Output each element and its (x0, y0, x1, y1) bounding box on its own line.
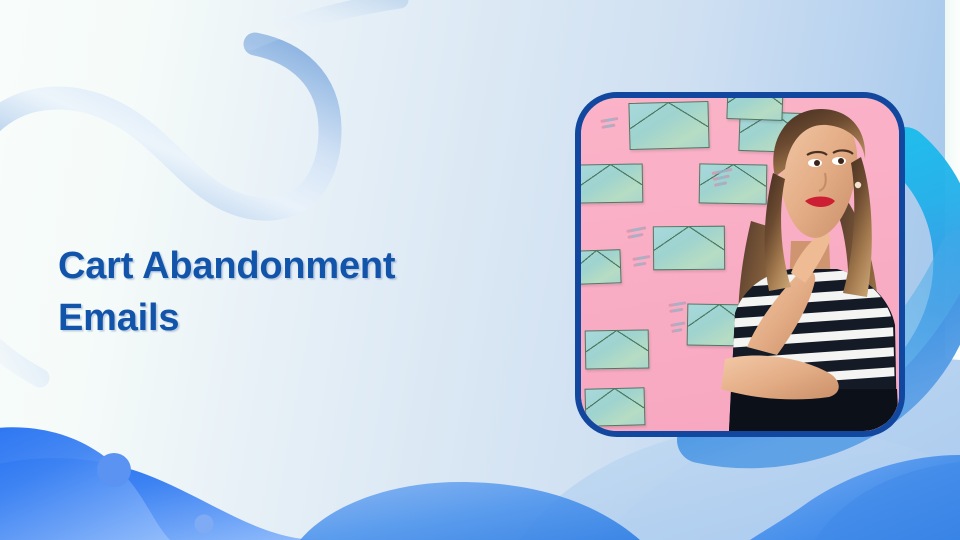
page-title-line-1: Cart Abandonment (58, 240, 498, 292)
page-title: Cart Abandonment Emails (58, 240, 498, 344)
slide-canvas: Cart Abandonment Emails (0, 0, 960, 540)
envelope-icon (585, 387, 646, 427)
photo-image (581, 98, 899, 431)
envelope-icon (585, 329, 650, 369)
envelope-icon (628, 101, 709, 150)
background-right-edge-strip (945, 0, 960, 540)
woman-photo-subject (717, 101, 899, 431)
envelope-icon (653, 226, 725, 271)
page-title-line-2: Emails (58, 292, 498, 344)
photo-card (575, 92, 905, 437)
envelope-icon (581, 249, 622, 285)
earring (855, 182, 861, 188)
envelope-icon (581, 163, 643, 203)
